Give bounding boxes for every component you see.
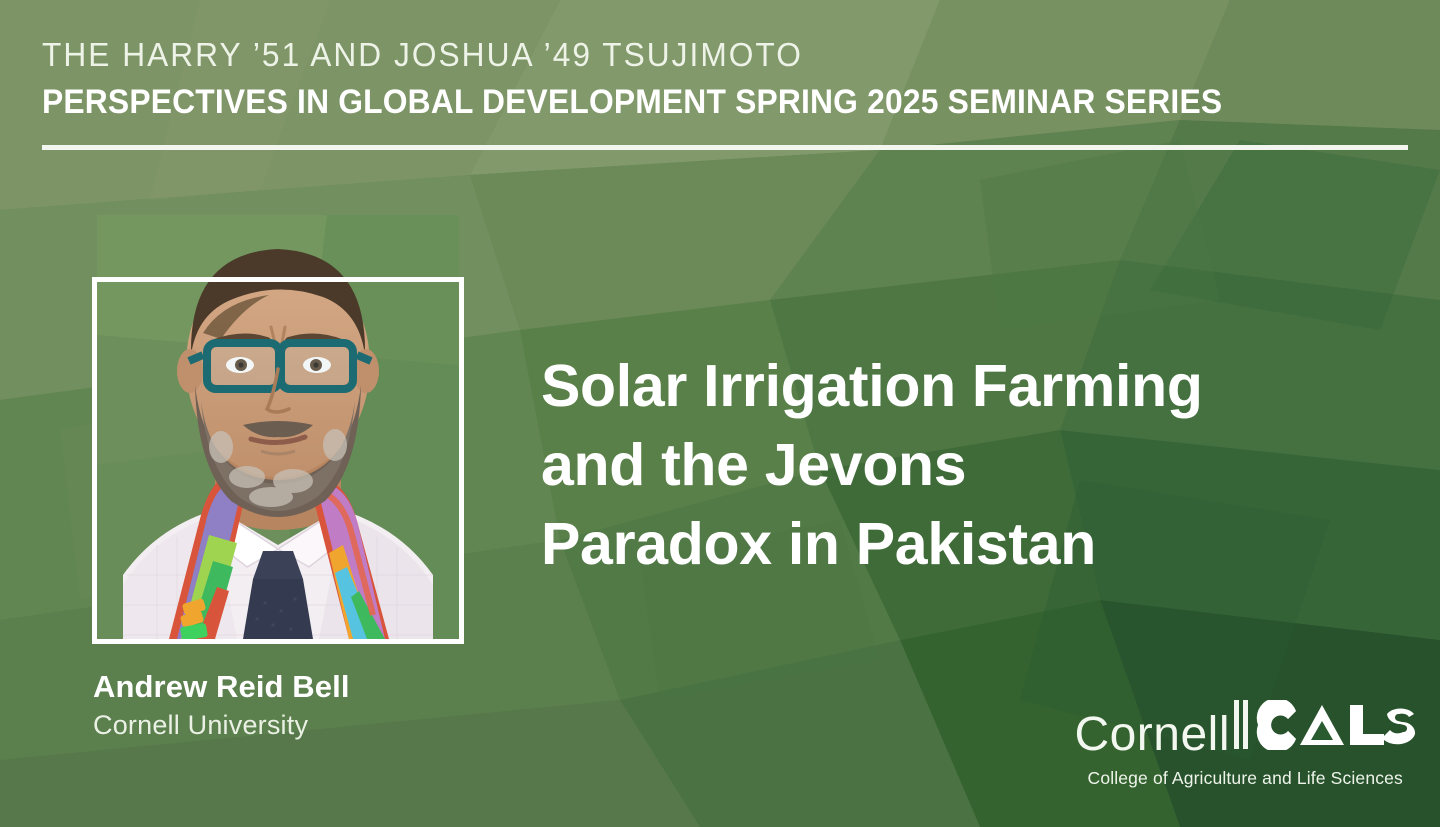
speaker-photo (97, 215, 459, 639)
talk-title-line-2: and the Jevons (541, 426, 1371, 505)
speaker-affiliation: Cornell University (93, 709, 350, 743)
speaker-portrait (92, 277, 464, 644)
speaker-name: Andrew Reid Bell (93, 668, 350, 705)
cornell-cals-logo: Cornell College of Agriculture and Life … (1074, 700, 1416, 789)
speaker-info: Andrew Reid Bell Cornell University (93, 668, 350, 743)
talk-title-line-3: Paradox in Pakistan (541, 505, 1371, 584)
logo-tagline: College of Agriculture and Life Sciences (1074, 768, 1416, 789)
seminar-poster: THE HARRY ’51 AND JOSHUA ’49 TSUJIMOTO P… (0, 0, 1440, 827)
series-donor-line: THE HARRY ’51 AND JOSHUA ’49 TSUJIMOTO (42, 36, 1357, 75)
header-divider (42, 145, 1408, 150)
logo-cornell-text: Cornell (1074, 711, 1230, 759)
seminar-series-header: THE HARRY ’51 AND JOSHUA ’49 TSUJIMOTO P… (42, 36, 1412, 124)
series-title-line: PERSPECTIVES IN GLOBAL DEVELOPMENT SPRIN… (42, 80, 1323, 124)
logo-cals-mark (1234, 700, 1416, 750)
talk-title-line-1: Solar Irrigation Farming (541, 347, 1371, 426)
talk-title: Solar Irrigation Farming and the Jevons … (541, 347, 1371, 584)
logo-wordmark: Cornell (1074, 700, 1416, 759)
